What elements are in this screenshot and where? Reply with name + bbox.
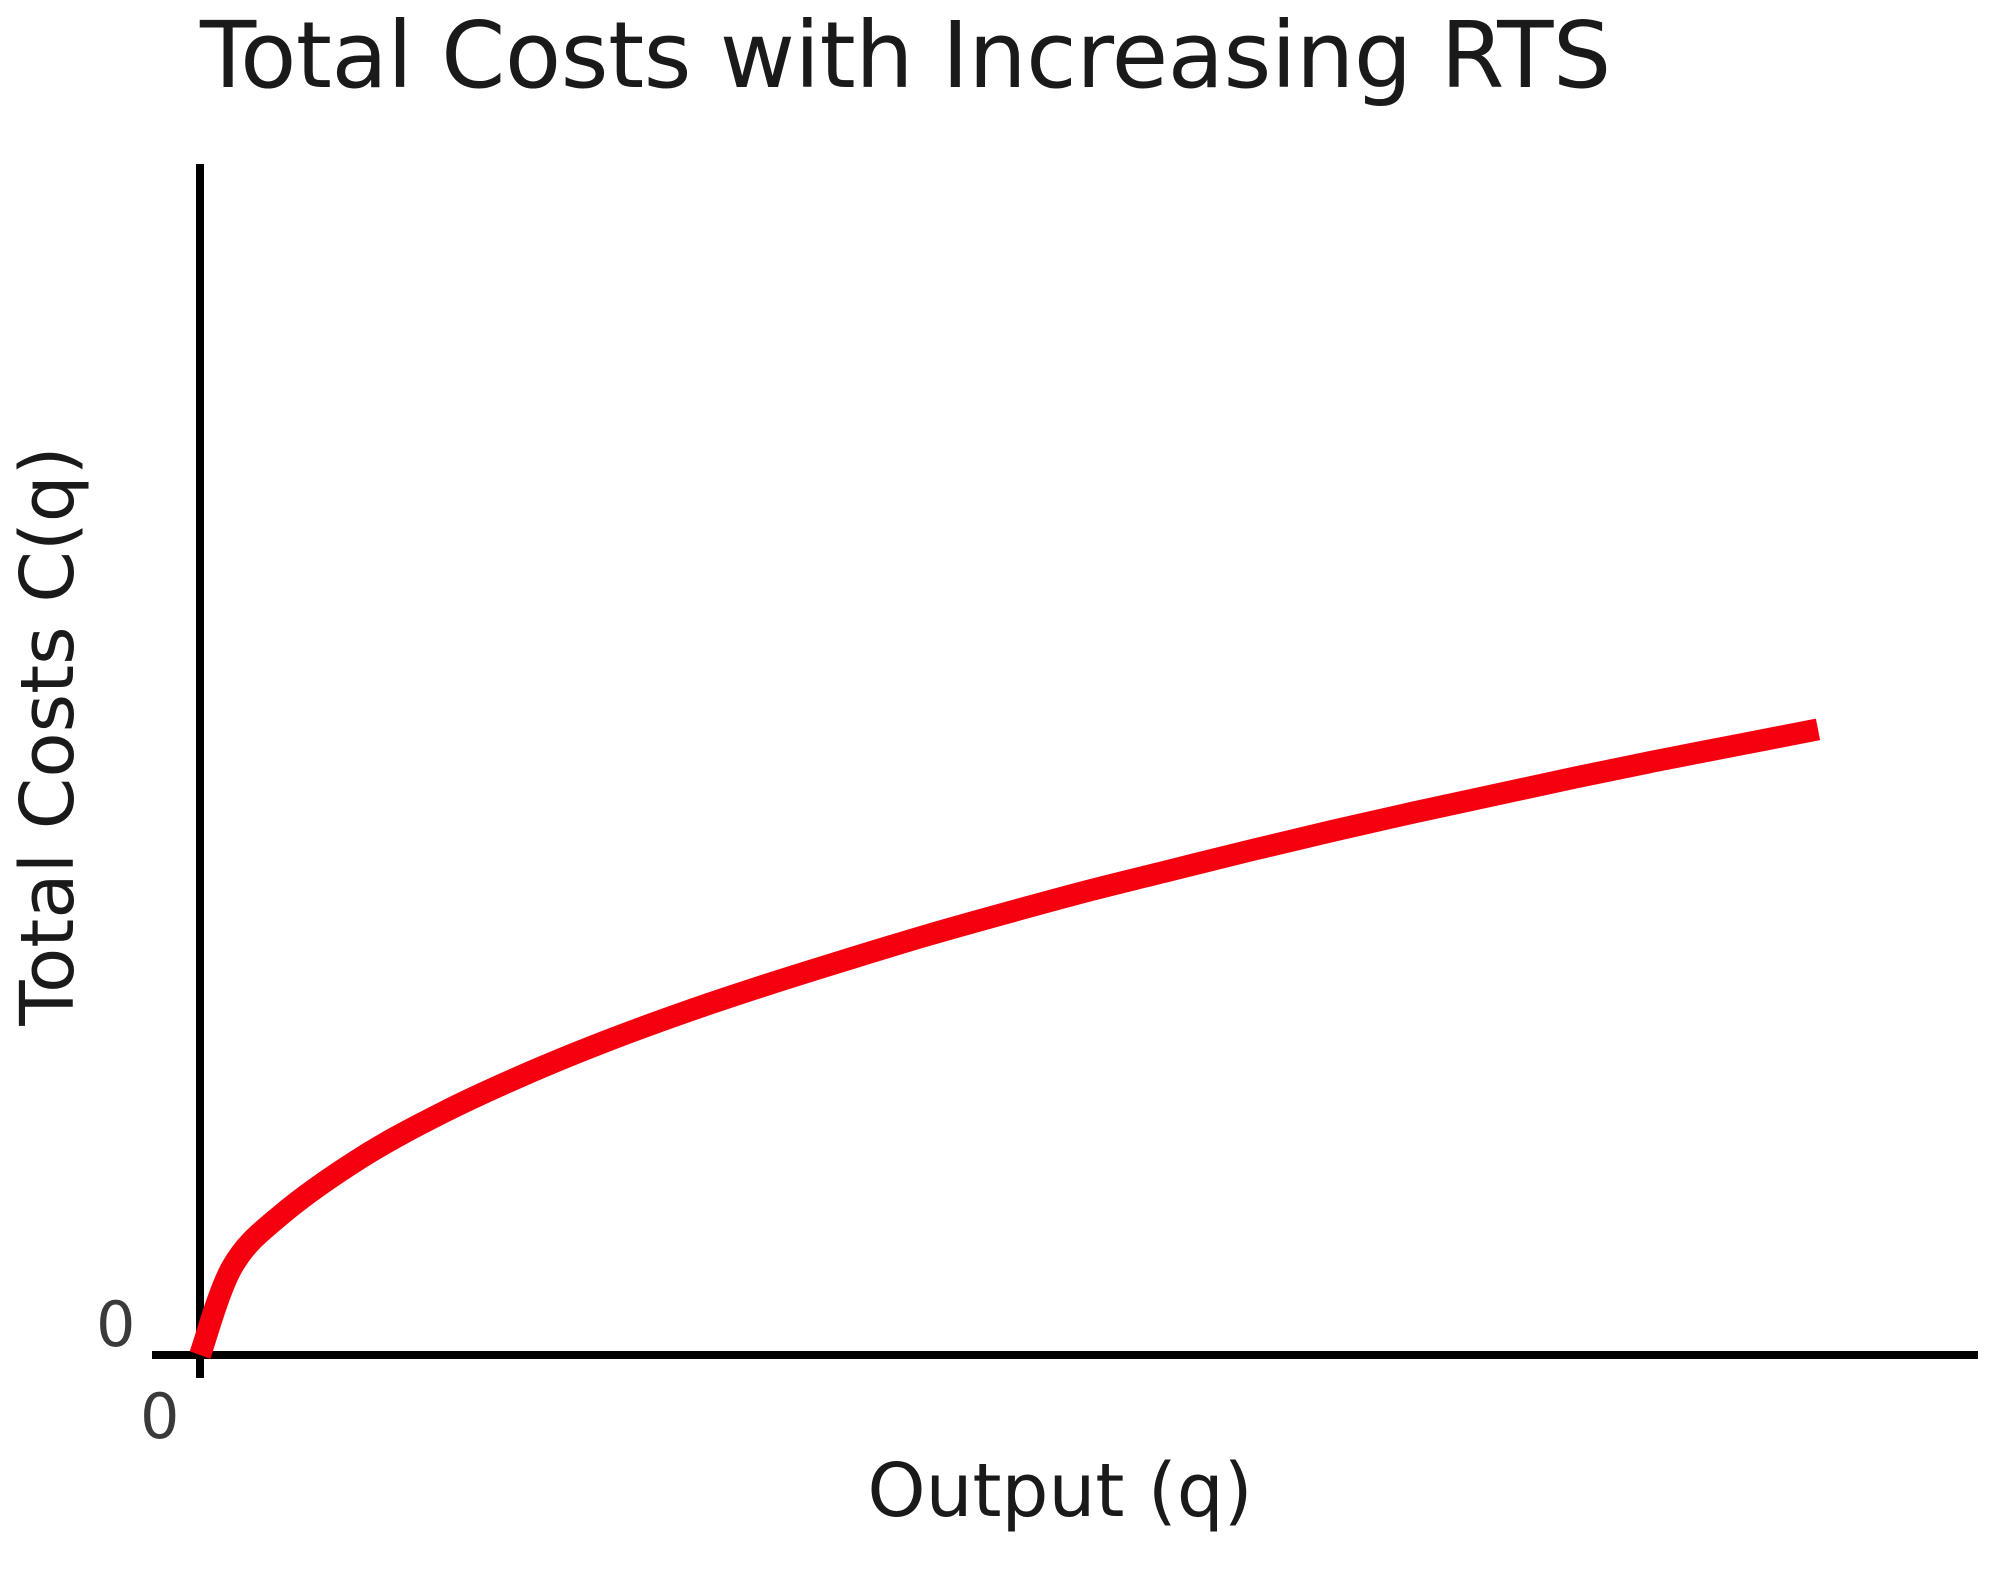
total-cost-curve <box>200 729 1818 1355</box>
chart-figure: Total Costs with Increasing RTS Total Co… <box>0 0 2016 1584</box>
plot-area <box>0 0 2016 1584</box>
